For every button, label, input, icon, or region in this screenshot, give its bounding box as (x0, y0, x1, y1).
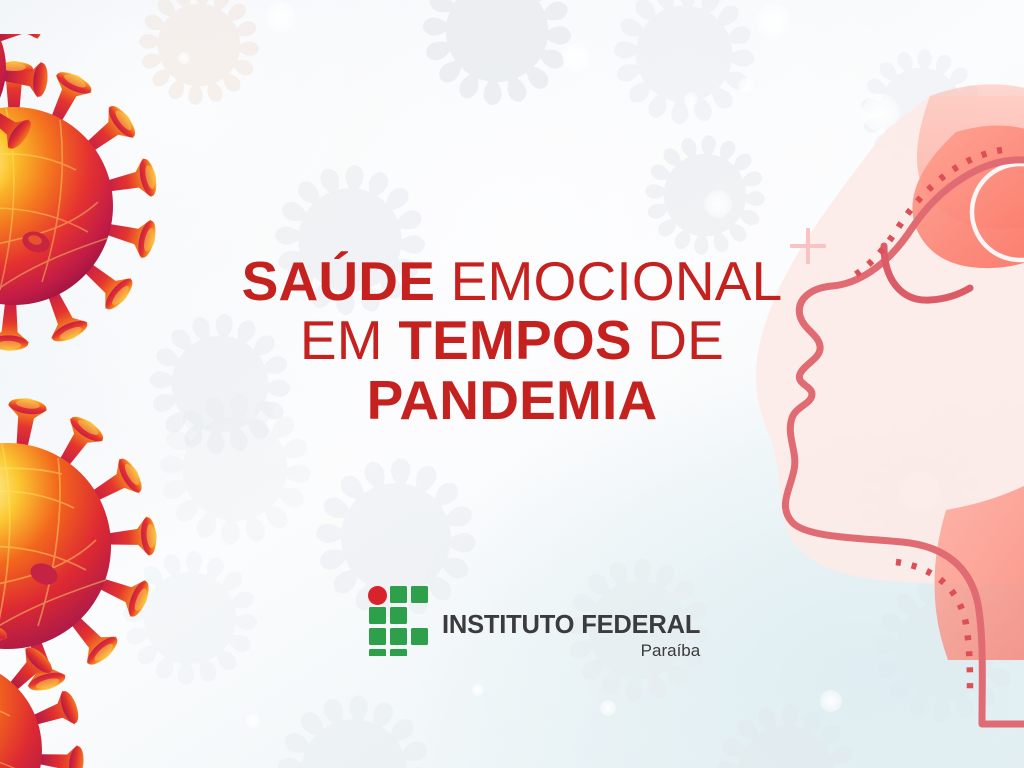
bokeh-dot-icon (704, 190, 732, 218)
headline-line-1: SAÚDE EMOCIONAL (0, 255, 1024, 308)
headline-tempos: TEMPOS (398, 309, 631, 371)
headline-pandemia: PANDEMIA (367, 369, 658, 431)
headline-emocional: EMOCIONAL (451, 250, 783, 312)
bokeh-dot-icon (820, 690, 842, 712)
logo-institution-name: INSTITUTO FEDERAL (442, 613, 700, 639)
coronavirus-outline-watermark-icon (840, 420, 1000, 580)
headline-saude: SAÚDE (242, 250, 436, 312)
logo-campus-name: Paraíba (442, 641, 700, 661)
coronavirus-outline-watermark-icon (124, 0, 274, 120)
headline-line-3: PANDEMIA (0, 374, 1024, 427)
coronavirus-outline-watermark-icon (258, 676, 450, 768)
bokeh-dot-icon (756, 4, 790, 38)
bokeh-dot-icon (946, 534, 1000, 588)
bokeh-dot-icon (266, 2, 296, 32)
ifpb-logo: INSTITUTO FEDERAL Paraíba (368, 586, 700, 660)
bokeh-dot-icon (684, 92, 698, 106)
coronavirus-outline-watermark-icon (404, 0, 590, 124)
headline-line-2: EM TEMPOS DE (0, 314, 1024, 367)
bokeh-dot-icon (246, 714, 260, 728)
bokeh-dot-icon (862, 94, 900, 132)
bokeh-dot-icon (472, 684, 484, 696)
headline-em: EM (300, 309, 383, 371)
bokeh-dot-icon (178, 52, 190, 64)
poster-canvas: SAÚDE EMOCIONAL EM TEMPOS DE PANDEMIA IN… (0, 0, 1024, 768)
bokeh-dot-icon (562, 44, 590, 72)
coronavirus-outline-watermark-icon (698, 686, 874, 768)
coronavirus-outline-watermark-icon (856, 560, 1024, 740)
coronavirus-outline-watermark-icon (106, 534, 274, 702)
ifpb-grid-logo-icon (368, 586, 430, 656)
bokeh-dot-icon (600, 700, 616, 716)
coronavirus-outline-watermark-icon (846, 34, 996, 184)
coronavirus-outline-watermark-icon (630, 120, 780, 270)
bokeh-dot-icon (900, 472, 940, 512)
coronavirus-outline-watermark-icon (596, 0, 772, 142)
page-title: SAÚDE EMOCIONAL EM TEMPOS DE PANDEMIA (0, 255, 1024, 427)
headline-de: DE (647, 309, 724, 371)
bokeh-dot-icon (738, 78, 754, 94)
logo-wordmark: INSTITUTO FEDERAL Paraíba (442, 586, 700, 660)
